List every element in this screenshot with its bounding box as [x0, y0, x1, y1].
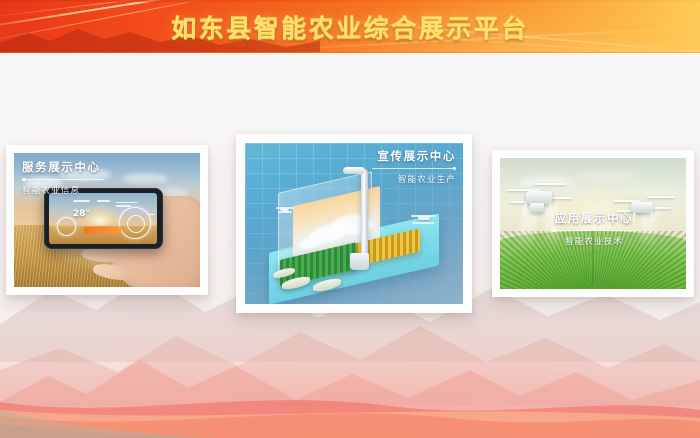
panel-image-service: 28°	[14, 153, 200, 287]
drone-icon	[504, 179, 582, 221]
drone-icon	[411, 212, 435, 224]
cloud-shape	[574, 170, 638, 181]
panel-application-center[interactable]: 应用展示中心 智能农业技术	[492, 150, 694, 297]
cloud-shape	[298, 234, 324, 251]
drone-icon	[276, 204, 294, 214]
panel-image-promotion	[245, 143, 463, 304]
light-pole	[361, 169, 368, 259]
data-strip	[84, 227, 121, 234]
header-banner: 如东县智能农业综合展示平台	[0, 0, 700, 53]
smartphone: 28°	[44, 188, 163, 250]
phone-screen: 28°	[49, 193, 157, 244]
hud-ring-icon	[57, 217, 76, 236]
weather-line	[73, 200, 90, 201]
cloud-shape	[59, 168, 111, 181]
display-platform-page: 如东县智能农业综合展示平台	[0, 0, 700, 438]
temperature-readout: 28°	[73, 209, 90, 219]
hud-target-icon	[119, 207, 151, 239]
panel-promotion-center[interactable]: 宣传展示中心 智能农业生产	[236, 134, 472, 313]
cloud-shape	[122, 173, 168, 184]
panel-service-center[interactable]: 28° 服务展示中心 智能农业信息	[6, 145, 208, 295]
drone-icon	[613, 192, 675, 226]
weather-line	[116, 202, 138, 203]
weather-line	[97, 200, 110, 201]
page-title: 如东县智能农业综合展示平台	[0, 0, 700, 53]
light-pole-arm	[343, 167, 365, 174]
weather-line	[116, 205, 131, 206]
background-bottom-glow	[0, 400, 700, 438]
water-bucket	[350, 253, 370, 271]
panel-image-application	[500, 158, 686, 289]
